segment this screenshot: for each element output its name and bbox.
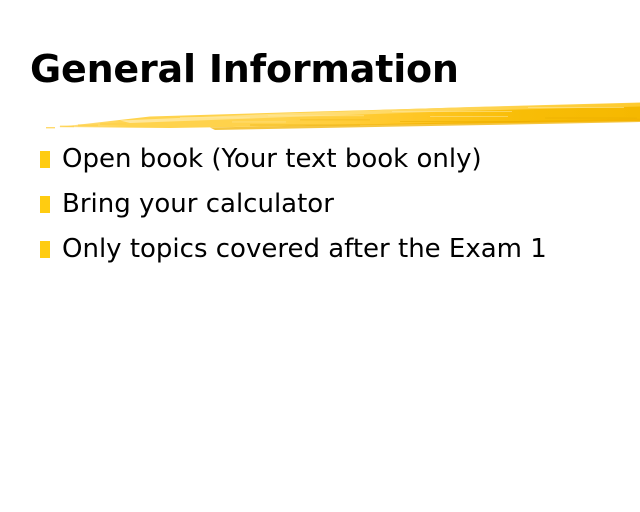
brush-stroke-underline-icon bbox=[0, 96, 640, 132]
list-item: Only topics covered after the Exam 1 bbox=[40, 230, 620, 275]
list-item-label: Bring your calculator bbox=[62, 185, 620, 223]
bullet-list: Open book (Your text book only) Bring yo… bbox=[40, 140, 620, 275]
list-item: Open book (Your text book only) bbox=[40, 140, 620, 185]
list-item: Bring your calculator bbox=[40, 185, 620, 230]
square-bullet-icon bbox=[40, 151, 50, 168]
list-item-label: Only topics covered after the Exam 1 bbox=[62, 230, 620, 268]
square-bullet-icon bbox=[40, 241, 50, 258]
list-item-label: Open book (Your text book only) bbox=[62, 140, 620, 178]
presentation-slide: General Information bbox=[0, 0, 640, 512]
square-bullet-icon bbox=[40, 196, 50, 213]
page-title: General Information bbox=[30, 47, 459, 91]
